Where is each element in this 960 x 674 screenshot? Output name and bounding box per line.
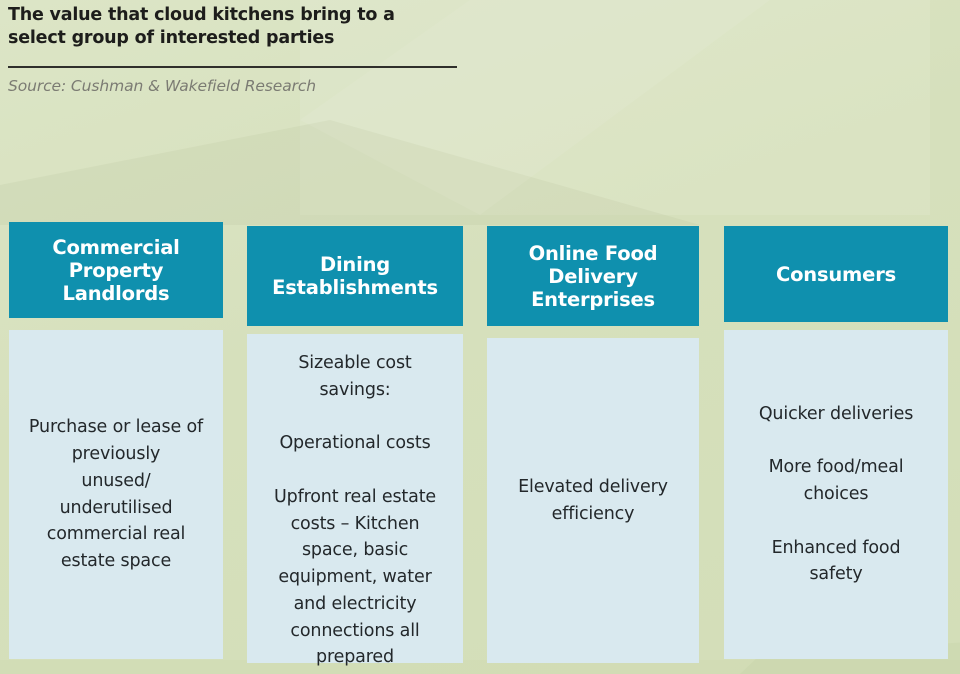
page-title: The value that cloud kitchens bring to a… [8,4,468,50]
column-header-dining-establishments: Dining Establishments [247,226,463,326]
stakeholder-columns: Commercial Property Landlords Purchase o… [0,222,960,674]
title-block: The value that cloud kitchens bring to a… [8,4,468,95]
column-dining-establishments: Dining Establishments Sizeable cost savi… [236,222,475,674]
column-body-commercial-property-landlords: Purchase or lease of previously unused/ … [9,330,223,659]
column-header-commercial-property-landlords: Commercial Property Landlords [9,222,223,318]
column-header-consumers: Consumers [724,226,948,322]
column-body-online-food-delivery-enterprises: Elevated delivery efficiency [487,338,699,663]
column-body-consumers: Quicker deliveries More food/meal choice… [724,330,948,659]
column-consumers: Consumers Quicker deliveries More food/m… [712,222,960,674]
column-body-dining-establishments: Sizeable cost savings: Operational costs… [247,334,463,663]
column-online-food-delivery-enterprises: Online Food Delivery Enterprises Elevate… [475,222,712,674]
column-commercial-property-landlords: Commercial Property Landlords Purchase o… [0,222,236,674]
source-attribution: Source: Cushman & Wakefield Research [8,77,468,95]
title-divider [8,66,457,68]
infographic-canvas: The value that cloud kitchens bring to a… [0,0,960,674]
column-header-online-food-delivery-enterprises: Online Food Delivery Enterprises [487,226,699,326]
